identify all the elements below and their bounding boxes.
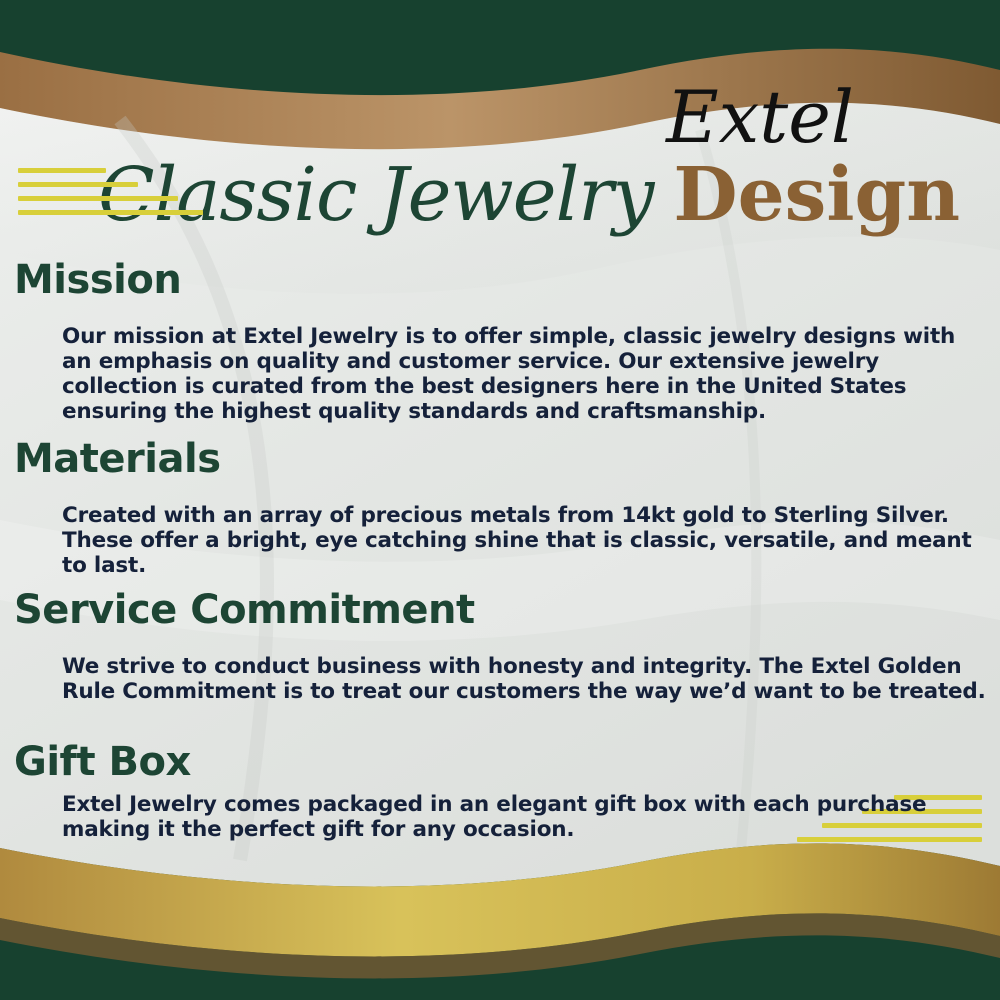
- dash-line: [18, 196, 178, 201]
- section-service-commitment: Service Commitment We strive to conduct …: [14, 588, 986, 725]
- section-heading-gift-box: Gift Box: [14, 740, 986, 784]
- poster-canvas: Extel Classic JewelryDesign Mission Our …: [0, 0, 1000, 1000]
- section-gift-box: Gift Box Extel Jewelry comes packaged in…: [14, 740, 986, 864]
- brand-logo: Extel: [600, 78, 920, 158]
- section-heading-service-commitment: Service Commitment: [14, 588, 986, 632]
- title-part-design: Design: [673, 152, 960, 238]
- section-body-service-commitment: We strive to conduct business with hones…: [62, 654, 986, 704]
- brand-name: Extel: [600, 78, 920, 156]
- section-heading-mission: Mission: [14, 258, 986, 302]
- decorative-dashes-top-left: [18, 168, 203, 224]
- section-body-mission: Our mission at Extel Jewelry is to offer…: [62, 324, 986, 424]
- dash-line: [18, 168, 106, 173]
- section-mission: Mission Our mission at Extel Jewelry is …: [14, 258, 986, 445]
- dash-line: [18, 182, 138, 187]
- section-heading-materials: Materials: [14, 437, 986, 481]
- section-body-materials: Created with an array of precious metals…: [62, 503, 986, 578]
- section-body-gift-box: Extel Jewelry comes packaged in an elega…: [62, 792, 986, 842]
- dash-line: [18, 210, 203, 215]
- poster-content: Extel Classic JewelryDesign Mission Our …: [0, 0, 1000, 1000]
- section-materials: Materials Created with an array of preci…: [14, 437, 986, 599]
